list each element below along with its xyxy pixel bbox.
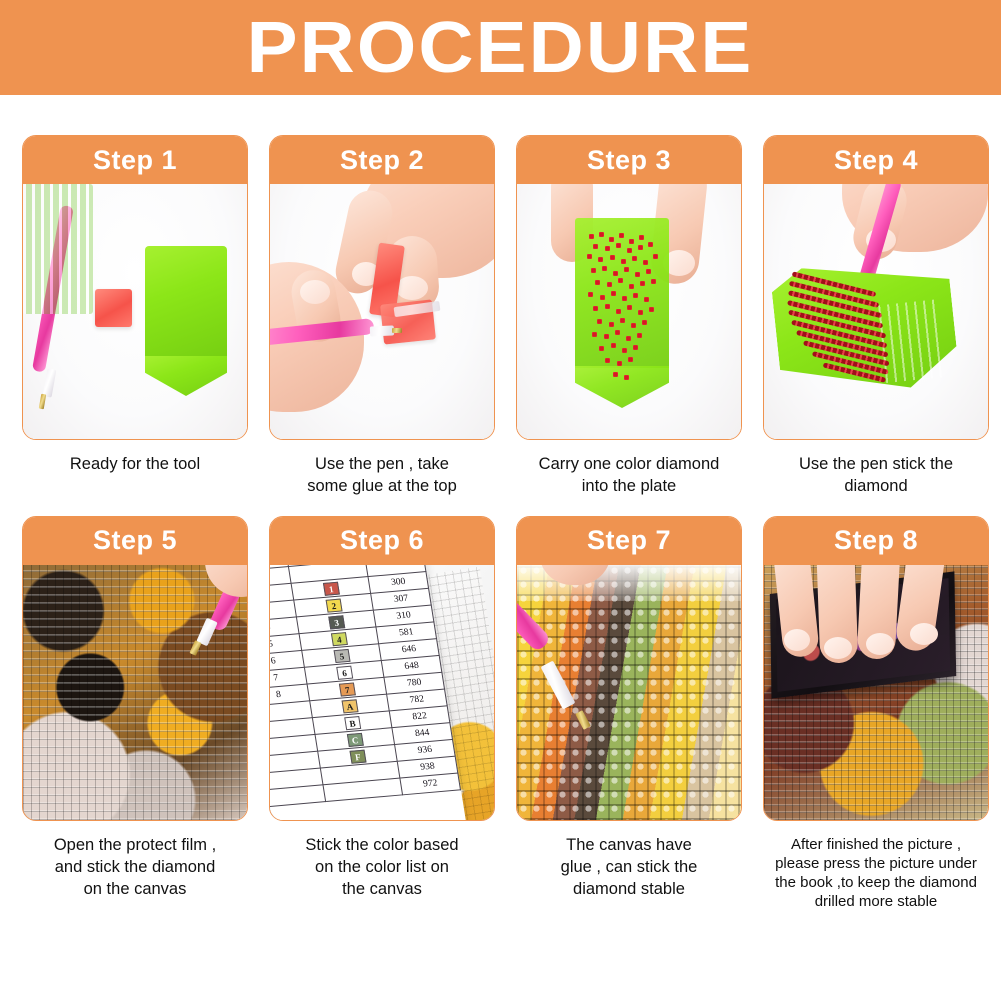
step-4-header: Step 4: [764, 136, 988, 184]
step-5-photo: [23, 565, 247, 820]
step-7-header-label: Step 7: [587, 525, 671, 556]
step-2-header: Step 2: [270, 136, 494, 184]
aligned-diamond-rows: [783, 270, 924, 393]
round-drill-canvas: [517, 565, 741, 820]
page-header-banner: PROCEDURE: [0, 0, 1001, 95]
step-5-header: Step 5: [23, 517, 247, 565]
step-4-caption: Use the pen stick the diamond: [763, 454, 989, 498]
step-2-caption: Use the pen , take some glue at the top: [269, 454, 495, 498]
sunflower-mosaic-canvas: [23, 565, 247, 820]
pressing-fingernail-2: [824, 637, 852, 659]
step-2-header-label: Step 2: [340, 145, 424, 176]
chart-symbol-swatch: C: [347, 732, 364, 746]
step-1-photo: [23, 184, 247, 439]
step-7-header: Step 7: [517, 517, 741, 565]
chart-symbol-swatch: 3: [328, 615, 345, 629]
chart-cell-serial: [270, 785, 326, 807]
step-5-header-label: Step 5: [93, 525, 177, 556]
pressing-fingernail-4: [910, 623, 938, 645]
bead-texture: [517, 565, 741, 820]
step-8-card: Step 8: [763, 516, 989, 821]
diamond-tray: [145, 246, 227, 358]
step-6-card: Step 6 Serial Symbol D: [269, 516, 495, 821]
chart-symbol-swatch: A: [341, 699, 358, 713]
step-card-2: Step 2: [269, 135, 495, 498]
step-3-caption: Carry one color diamond into the plate: [516, 454, 742, 498]
step-8-header-label: Step 8: [834, 525, 918, 556]
step-6-header-label: Step 6: [340, 525, 424, 556]
step-1-header: Step 1: [23, 136, 247, 184]
chart-symbol-swatch: F: [349, 749, 366, 763]
right-hand-indexnail: [396, 276, 428, 300]
step-3-card: Step 3: [516, 135, 742, 440]
step-7-card: Step 7: [516, 516, 742, 821]
page-title: PROCEDURE: [247, 12, 754, 84]
step-card-4: Step 4: [763, 135, 989, 498]
step-7-caption: The canvas have glue , can stick the dia…: [516, 835, 742, 901]
chart-symbol-swatch: B: [344, 715, 361, 729]
step-card-3: Step 3: [516, 135, 742, 498]
step-2-photo: [270, 184, 494, 439]
chart-symbol-swatch: 5: [333, 648, 350, 662]
step-5-caption: Open the protect film , and stick the di…: [22, 835, 248, 901]
step-6-caption: Stick the color based on the color list …: [269, 835, 495, 901]
pressing-fingernail-1: [784, 629, 810, 651]
chart-symbol-swatch: 2: [325, 598, 342, 612]
step-card-5: Step 5 Open the protect film , and stick…: [22, 516, 248, 912]
red-diamond-pile: [583, 230, 663, 390]
step-8-photo: [764, 565, 988, 820]
mosaic-bead-texture: [23, 565, 247, 820]
step-3-photo: [517, 184, 741, 439]
step-card-1: Step 1 Ready for the tool: [22, 135, 248, 498]
step-6-photo: Serial Symbol DMC 1213003230743310545816…: [270, 565, 494, 820]
step-card-7: Step 7 The canvas have glue , can stick …: [516, 516, 742, 912]
pressing-fingernail-3: [866, 633, 894, 655]
step-4-photo: [764, 184, 988, 439]
step-4-card: Step 4: [763, 135, 989, 440]
chart-symbol-swatch: 1: [323, 581, 340, 595]
step-1-header-label: Step 1: [93, 145, 177, 176]
left-hand-indexnail: [300, 280, 330, 304]
color-chart-scene: Serial Symbol DMC 1213003230743310545816…: [270, 565, 494, 820]
step-5-card: Step 5: [22, 516, 248, 821]
chart-symbol-swatch: 7: [339, 682, 356, 696]
step-1-card: Step 1: [22, 135, 248, 440]
step-card-6: Step 6 Serial Symbol D: [269, 516, 495, 912]
step-3-header: Step 3: [517, 136, 741, 184]
step-6-header: Step 6: [270, 517, 494, 565]
step-4-header-label: Step 4: [834, 145, 918, 176]
step-8-header: Step 8: [764, 517, 988, 565]
step-card-8: Step 8 After finished: [763, 516, 989, 912]
glue-square: [95, 289, 132, 327]
step-3-header-label: Step 3: [587, 145, 671, 176]
step-1-caption: Ready for the tool: [22, 454, 248, 476]
step-7-photo: [517, 565, 741, 820]
applicator-pen-tip: [370, 325, 394, 336]
step-8-caption: After finished the picture , please pres…: [763, 835, 989, 912]
chart-symbol-swatch: 6: [336, 665, 353, 679]
tray-grooves: [23, 184, 93, 314]
step-2-card: Step 2: [269, 135, 495, 440]
procedure-steps-grid: Step 1 Ready for the tool Step 2: [0, 95, 1001, 912]
chart-symbol-swatch: 4: [331, 631, 348, 645]
applicator-pen-needle: [392, 328, 402, 333]
